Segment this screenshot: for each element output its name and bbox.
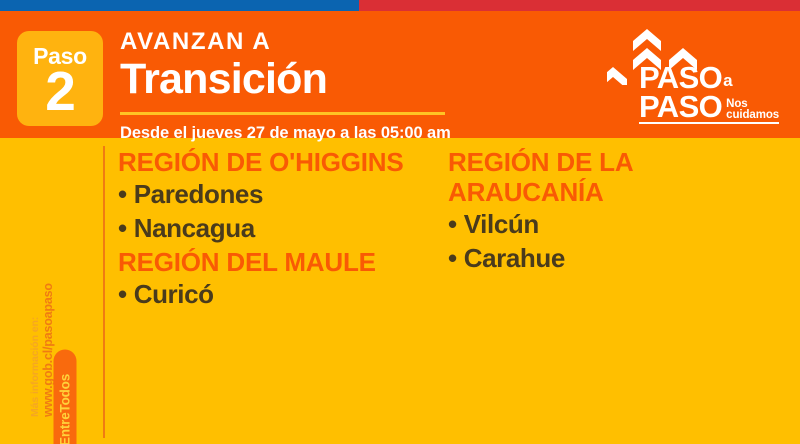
paso-a-paso-poster: Paso 2 AVANZAN A Transición Desde el jue… xyxy=(0,0,800,444)
header-banner: Paso 2 AVANZAN A Transición Desde el jue… xyxy=(0,11,800,138)
bullet-icon: • xyxy=(448,207,457,241)
commune-item: • Curicó xyxy=(118,277,448,311)
commune-item: • Paredones xyxy=(118,177,448,211)
region-title: REGIÓN DE O'HIGGINS xyxy=(118,147,448,177)
flag-color-bar xyxy=(0,0,800,11)
region-group: REGIÓN DEL MAULE • Curicó xyxy=(118,247,448,311)
logo-paso-2: PASO xyxy=(639,92,722,121)
logo-line-2: PASO Nos cuidamos xyxy=(639,92,779,121)
logo-underline xyxy=(639,122,779,124)
header-kicker: AVANZAN A xyxy=(120,29,620,55)
region-group: REGIÓN DE O'HIGGINS • Paredones • Nancag… xyxy=(118,147,448,245)
step-badge-number: 2 xyxy=(45,65,75,117)
sidebar: Más información en: www.gob.cl/pasoapaso… xyxy=(0,138,104,444)
step-badge: Paso 2 xyxy=(17,31,103,126)
commune-label: Nancagua xyxy=(134,211,255,245)
commune-label: Curicó xyxy=(134,277,214,311)
commune-item: • Vilcún xyxy=(448,207,788,241)
bullet-icon: • xyxy=(118,177,127,211)
logo-a: a xyxy=(723,71,732,91)
logo-tagline-line-2: cuidamos xyxy=(726,110,779,121)
logo-tagline: Nos cuidamos xyxy=(726,99,779,121)
commune-label: Paredones xyxy=(134,177,263,211)
hashtag-badge: #CuidémonosEntreTodos xyxy=(54,350,77,444)
logo-paso-1: PASO xyxy=(639,63,722,92)
commune-item: • Nancagua xyxy=(118,211,448,245)
paso-a-paso-logo: PASO a PASO Nos cuidamos xyxy=(601,27,783,135)
sidebar-info-text: Más información en: www.gob.cl/pasoapaso xyxy=(29,257,55,417)
region-title: REGIÓN DEL MAULE xyxy=(118,247,448,277)
page-title: Transición xyxy=(120,56,620,102)
regions-column-right: REGIÓN DE LA ARAUCANÍA • Vilcún • Carahu… xyxy=(448,147,788,275)
header-divider xyxy=(120,112,445,115)
commune-label: Vilcún xyxy=(464,207,539,241)
region-group: REGIÓN DE LA ARAUCANÍA • Vilcún • Carahu… xyxy=(448,147,788,275)
flag-red-segment xyxy=(359,0,800,11)
bullet-icon: • xyxy=(118,211,127,245)
bullet-icon: • xyxy=(118,277,127,311)
flag-blue-segment xyxy=(0,0,359,11)
commune-label: Carahue xyxy=(464,241,565,275)
header-text-block: AVANZAN A Transición Desde el jueves 27 … xyxy=(120,29,620,143)
regions-column-left: REGIÓN DE O'HIGGINS • Paredones • Nancag… xyxy=(118,147,448,311)
regions-content: REGIÓN DE O'HIGGINS • Paredones • Nancag… xyxy=(104,138,800,444)
logo-line-1: PASO a xyxy=(639,63,779,92)
logo-wordmark: PASO a PASO Nos cuidamos xyxy=(639,63,779,121)
bullet-icon: • xyxy=(448,241,457,275)
hashtag-badge-label: #CuidémonosEntreTodos xyxy=(58,374,73,444)
commune-item: • Carahue xyxy=(448,241,788,275)
region-title: REGIÓN DE LA ARAUCANÍA xyxy=(448,147,788,207)
